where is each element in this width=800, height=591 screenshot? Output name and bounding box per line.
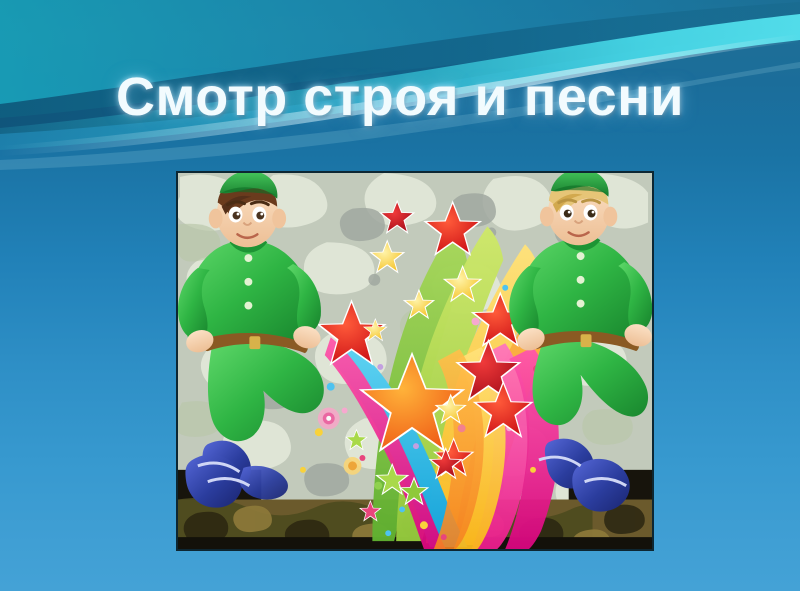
illustration-frame <box>176 171 654 551</box>
boy-right-button-1 <box>577 252 585 260</box>
boy-left-button-3 <box>244 302 252 310</box>
illustration-svg <box>178 173 652 549</box>
boy-left-button-2 <box>244 278 252 286</box>
boy-right-button-2 <box>577 276 585 284</box>
boy-left-belt-buckle <box>249 336 260 349</box>
boy-right-button-3 <box>577 300 585 308</box>
slide-title: Смотр строя и песни <box>0 66 800 128</box>
illustration-content <box>178 173 652 549</box>
illustration-canvas <box>178 173 652 549</box>
presentation-slide: Смотр строя и песни <box>0 0 800 591</box>
boy-right-belt-buckle <box>581 334 592 347</box>
boy-left-button-1 <box>244 254 252 262</box>
